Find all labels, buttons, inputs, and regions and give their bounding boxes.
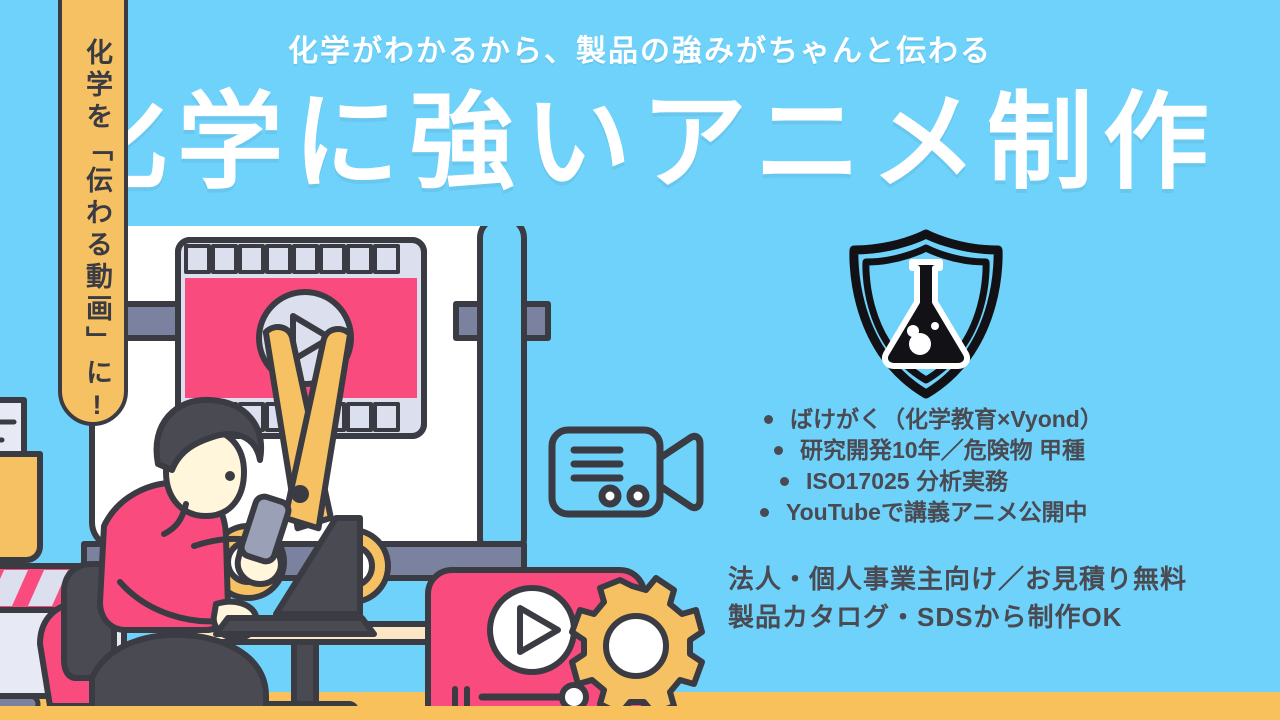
list-item-label: ISO17025 分析実務 (806, 466, 1008, 497)
shield-flask-badge (838, 228, 1014, 400)
list-item: ISO17025 分析実務 (780, 466, 1222, 497)
erlenmeyer-flask-icon (885, 262, 967, 366)
list-item: ばけがく（化学教育×Vyond） (764, 404, 1222, 435)
ribbon-text: 化学を「伝わる動画」に! (62, 38, 132, 425)
bullet-dot-icon (780, 477, 789, 486)
bullet-dot-icon (774, 446, 783, 455)
bullet-dot-icon (764, 415, 773, 424)
footer-line-1: 法人・個人事業主向け／お見積り無料 (728, 560, 1187, 598)
list-item: 研究開発10年／危険物 甲種 (774, 435, 1222, 466)
list-item-label: YouTubeで講義アニメ公開中 (786, 497, 1088, 528)
list-item-label: 研究開発10年／危険物 甲種 (800, 435, 1085, 466)
bullet-dot-icon (760, 508, 769, 517)
page-title: 化学に強いアニメ制作 (0, 88, 1280, 199)
list-item-label: ばけがく（化学教育×Vyond） (790, 404, 1103, 435)
progress-handle (562, 685, 586, 706)
monitor-side-frame (480, 226, 524, 558)
subtitle: 化学がわかるから、製品の強みがちゃんと伝わる (0, 26, 1280, 70)
footer-notes: 法人・個人事業主向け／お見積り無料 製品カタログ・SDSから制作OK (728, 560, 1187, 636)
poster-canvas: 化学を「伝わる動画」に! 化学がわかるから、製品の強みがちゃんと伝わる 化学に強… (0, 0, 1280, 720)
folder-icon (0, 438, 40, 560)
vertical-ribbon: 化学を「伝わる動画」に! (58, 0, 128, 426)
feature-bullet-list: ばけがく（化学教育×Vyond） 研究開発10年／危険物 甲種 ISO17025… (752, 404, 1222, 528)
list-item: YouTubeで講義アニメ公開中 (760, 497, 1222, 528)
footer-line-2: 製品カタログ・SDSから制作OK (728, 598, 1187, 636)
video-camera-icon (548, 424, 704, 520)
